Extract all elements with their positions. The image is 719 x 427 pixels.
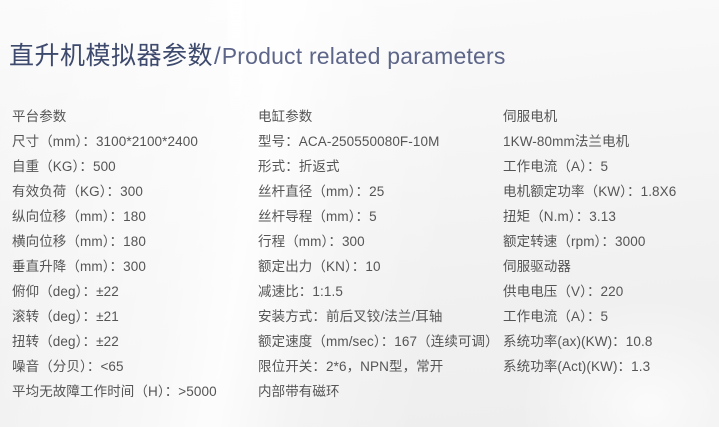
parameter-row: 垂直升降（mm）：300 [12,254,258,279]
parameter-row: 俯仰（deg）：±22 [12,279,258,304]
parameter-row: 内部带有磁环 [258,379,498,404]
parameter-row: 丝杆导程（mm）：5 [258,204,498,229]
parameter-row: 自重（KG）：500 [12,154,258,179]
parameter-row: 丝杆直径（mm）：25 [258,179,498,204]
parameter-group-heading: 伺服电机 [503,104,715,129]
page-title-chinese: 直升机模拟器参数 [9,42,213,70]
parameter-row: 工作电流（A）：5 [503,304,715,329]
parameter-row: 供电电压（V）：220 [503,279,715,304]
parameter-spec-sheet: 直升机模拟器参数/Product related parameters 平台参数… [0,0,719,427]
page-title: 直升机模拟器参数/Product related parameters [9,44,506,69]
parameter-row: 行程（mm）：300 [258,229,498,254]
parameter-row: 扭矩（N.m）：3.13 [503,204,715,229]
parameter-row: 电机额定功率（KW）：1.8X6 [503,179,715,204]
parameter-row: 额定速度（mm/sec）：167（连续可调） [258,329,498,354]
parameter-column-platform: 平台参数尺寸（mm）：3100*2100*2400自重（KG）：500有效负荷（… [12,104,258,404]
parameter-row: 系统功率(ax)(KW)：10.8 [503,329,715,354]
parameter-column-cylinder: 电缸参数型号：ACA-250550080F-10M形式：折返式丝杆直径（mm）：… [258,104,498,404]
parameter-row: 扭转（deg）：±22 [12,329,258,354]
parameter-row: 形式：折返式 [258,154,498,179]
parameter-row: 减速比：1:1.5 [258,279,498,304]
parameter-row: 有效负荷（KG）：300 [12,179,258,204]
parameter-row: 噪音（分贝）：<65 [12,354,258,379]
parameter-row: 额定转速（rpm）：3000 [503,229,715,254]
parameter-group-heading: 平台参数 [12,104,258,129]
page-title-english: Product related parameters [222,43,506,69]
parameter-row: 尺寸（mm）：3100*2100*2400 [12,129,258,154]
parameter-row: 横向位移（mm）：180 [12,229,258,254]
parameter-row: 安装方式：前后叉铰/法兰/耳轴 [258,304,498,329]
parameter-row: 纵向位移（mm）：180 [12,204,258,229]
parameter-column-servo: 伺服电机1KW-80mm法兰电机工作电流（A）：5电机额定功率（KW）：1.8X… [503,104,715,379]
parameter-row: 平均无故障工作时间（H）：>5000 [12,379,258,404]
page-title-separator: / [213,43,222,70]
parameter-row: 型号：ACA-250550080F-10M [258,129,498,154]
parameter-row: 伺服驱动器 [503,254,715,279]
parameter-row: 系统功率(Act)(KW)：1.3 [503,354,715,379]
parameter-row: 限位开关：2*6，NPN型，常开 [258,354,498,379]
parameter-group-heading: 电缸参数 [258,104,498,129]
parameter-row: 工作电流（A）：5 [503,154,715,179]
parameter-row: 额定出力（KN）：10 [258,254,498,279]
parameter-row: 滚转（deg）：±21 [12,304,258,329]
parameter-row: 1KW-80mm法兰电机 [503,129,715,154]
